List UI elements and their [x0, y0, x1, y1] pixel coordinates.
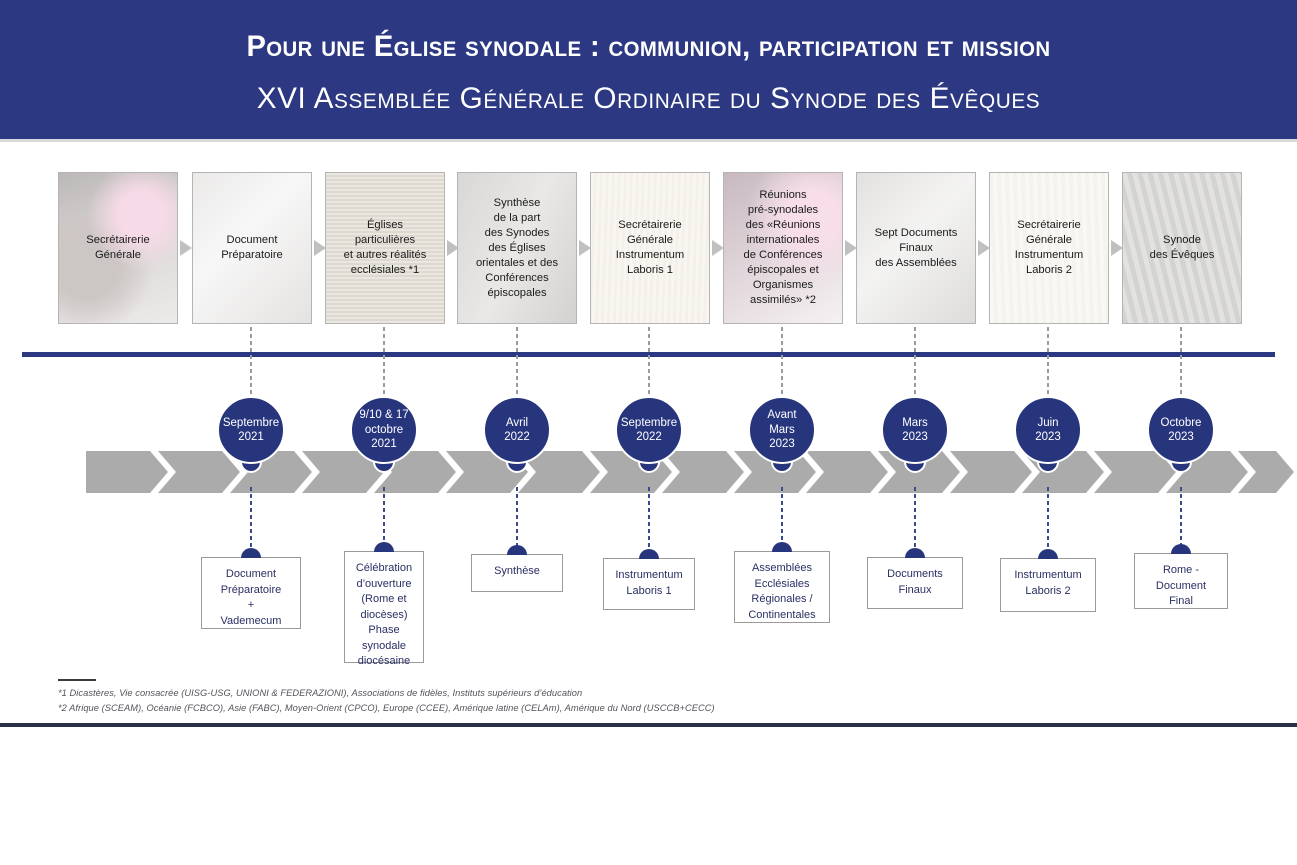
deliverable-box-5[interactable]: AssembléesEcclésialesRégionales /Contine… — [734, 551, 830, 623]
header-subtitle-line2: XVI Assemblée Générale Ordinaire du Syno… — [6, 82, 1290, 116]
connector-dotted-top-8 — [1180, 327, 1182, 400]
footnote-2: *2 Afrique (SCEAM), Océanie (FCBCO), Asi… — [58, 702, 715, 715]
milestone-date-label-5: AvantMars2023 — [767, 408, 796, 452]
connector-dotted-top-3 — [516, 327, 518, 400]
process-arrow-4 — [579, 240, 591, 256]
footnote-1: *1 Dicastères, Vie consacrée (UISG-USG, … — [58, 687, 582, 700]
process-card-5: SecrétairerieGénéraleInstrumentumLaboris… — [590, 172, 710, 324]
milestone-date-label-4: Septembre2022 — [621, 416, 677, 445]
milestone-date-circle-5[interactable]: AvantMars2023 — [748, 396, 816, 464]
connector-dotted-bottom-8 — [1180, 487, 1182, 549]
deliverable-box-cap-4 — [639, 549, 659, 559]
process-card-label-5: SecrétairerieGénéraleInstrumentumLaboris… — [612, 218, 688, 278]
milestone-date-label-6: Mars2023 — [902, 416, 928, 445]
deliverable-box-label-2: Célébrationd’ouverture(Rome etdiocèses)P… — [345, 561, 423, 670]
connector-dotted-bottom-5 — [781, 487, 783, 547]
process-card-6: Réunionspré-synodalesdes «Réunionsintern… — [723, 172, 843, 324]
milestone-date-circle-1[interactable]: Septembre2021 — [217, 396, 285, 464]
milestone-date-circle-7[interactable]: Juin2023 — [1014, 396, 1082, 464]
process-card-label-3: Églisesparticulièreset autres réalitésec… — [340, 218, 431, 278]
connector-dotted-top-4 — [648, 327, 650, 400]
process-arrow-2 — [314, 240, 326, 256]
process-card-row: SecrétairerieGénéraleDocumentPréparatoir… — [0, 172, 1297, 324]
deliverable-box-cap-7 — [1038, 549, 1058, 559]
deliverable-box-label-7: InstrumentumLaboris 2 — [1014, 568, 1081, 599]
milestone-date-label-2: 9/10 & 17octobre2021 — [359, 408, 408, 452]
process-arrow-7 — [978, 240, 990, 256]
milestone-date-label-7: Juin2023 — [1035, 416, 1061, 445]
header-title-line1: Pour une Église synodale : communion, pa… — [19, 30, 1277, 64]
process-arrow-5 — [712, 240, 724, 256]
deliverable-box-cap-2 — [374, 542, 394, 552]
process-arrow-6 — [845, 240, 857, 256]
deliverable-box-label-4: InstrumentumLaboris 1 — [615, 568, 682, 599]
process-card-label-7: Sept DocumentsFinauxdes Assemblées — [871, 226, 962, 271]
connector-dotted-bottom-1 — [250, 487, 252, 553]
milestone-date-circle-2[interactable]: 9/10 & 17octobre2021 — [350, 396, 418, 464]
milestone-date-label-8: Octobre2023 — [1161, 416, 1202, 445]
connector-dotted-top-7 — [1047, 327, 1049, 400]
deliverable-box-cap-5 — [772, 542, 792, 552]
deliverable-box-cap-3 — [507, 545, 527, 555]
deliverable-box-label-5: AssembléesEcclésialesRégionales /Contine… — [748, 561, 815, 623]
process-card-1: SecrétairerieGénérale — [58, 172, 178, 324]
deliverable-box-label-1: DocumentPréparatoire+Vademecum — [221, 567, 282, 629]
header-banner: Pour une Église synodale : communion, pa… — [0, 0, 1297, 139]
connector-dotted-top-5 — [781, 327, 783, 400]
connector-dotted-bottom-6 — [914, 487, 916, 553]
deliverable-box-cap-1 — [241, 548, 261, 558]
deliverable-box-cap-6 — [905, 548, 925, 558]
process-arrow-1 — [180, 240, 192, 256]
process-card-label-9: Synodedes Évêques — [1146, 233, 1219, 263]
process-card-label-2: DocumentPréparatoire — [217, 233, 287, 263]
deliverable-box-cap-8 — [1171, 544, 1191, 554]
process-card-8: SecrétairerieGénéraleInstrumentumLaboris… — [989, 172, 1109, 324]
deliverable-box-3[interactable]: Synthèse — [471, 554, 563, 592]
milestone-date-circle-8[interactable]: Octobre2023 — [1147, 396, 1215, 464]
process-card-label-6: Réunionspré-synodalesdes «Réunionsintern… — [740, 188, 827, 308]
milestone-date-circle-4[interactable]: Septembre2022 — [615, 396, 683, 464]
deliverable-box-1[interactable]: DocumentPréparatoire+Vademecum — [201, 557, 301, 629]
process-card-2: DocumentPréparatoire — [192, 172, 312, 324]
milestone-date-circle-3[interactable]: Avril2022 — [483, 396, 551, 464]
header-underline — [0, 139, 1297, 142]
deliverable-box-4[interactable]: InstrumentumLaboris 1 — [603, 558, 695, 610]
deliverable-box-7[interactable]: InstrumentumLaboris 2 — [1000, 558, 1096, 612]
footnote-divider — [58, 679, 96, 681]
deliverable-box-label-3: Synthèse — [494, 564, 540, 580]
connector-dotted-top-2 — [383, 327, 385, 400]
milestone-date-label-1: Septembre2021 — [223, 416, 279, 445]
connector-dotted-bottom-7 — [1047, 487, 1049, 554]
process-arrow-3 — [447, 240, 459, 256]
connector-dotted-bottom-2 — [383, 487, 385, 547]
connector-dotted-bottom-4 — [648, 487, 650, 554]
milestone-date-label-3: Avril2022 — [504, 416, 530, 445]
connector-dotted-top-1 — [250, 327, 252, 400]
process-card-label-4: Synthèsede la partdes Synodesdes Églises… — [472, 196, 562, 301]
connector-dotted-top-6 — [914, 327, 916, 400]
deliverable-box-label-8: Rome -DocumentFinal — [1156, 563, 1206, 610]
footer-area: SYNODUS EPISCOPORUM — [0, 727, 1297, 865]
process-card-label-8: SecrétairerieGénéraleInstrumentumLaboris… — [1011, 218, 1087, 278]
process-card-7: Sept DocumentsFinauxdes Assemblées — [856, 172, 976, 324]
deliverable-box-6[interactable]: DocumentsFinaux — [867, 557, 963, 609]
process-card-9: Synodedes Évêques — [1122, 172, 1242, 324]
process-arrow-8 — [1111, 240, 1123, 256]
deliverable-box-8[interactable]: Rome -DocumentFinal — [1134, 553, 1228, 609]
milestone-date-circle-6[interactable]: Mars2023 — [881, 396, 949, 464]
connector-dotted-bottom-3 — [516, 487, 518, 550]
process-card-label-1: SecrétairerieGénérale — [82, 233, 153, 263]
deliverable-box-label-6: DocumentsFinaux — [887, 567, 943, 598]
process-card-4: Synthèsede la partdes Synodesdes Églises… — [457, 172, 577, 324]
infographic-root: Pour une Église synodale : communion, pa… — [0, 0, 1297, 865]
process-card-3: Églisesparticulièreset autres réalitésec… — [325, 172, 445, 324]
deliverable-box-2[interactable]: Célébrationd’ouverture(Rome etdiocèses)P… — [344, 551, 424, 663]
